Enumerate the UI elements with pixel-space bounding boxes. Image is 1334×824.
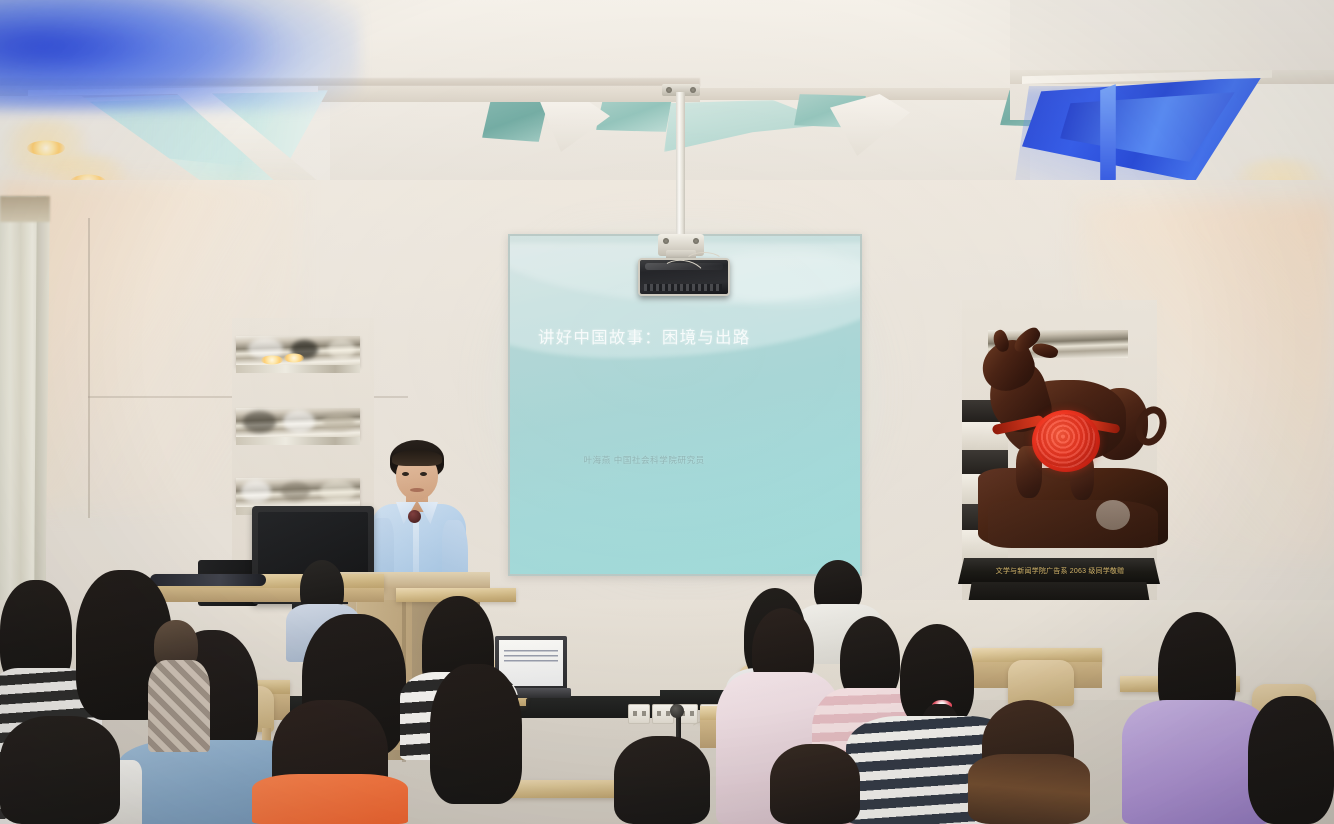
laptop-screen-text <box>504 650 558 662</box>
chair-right-2 <box>1008 660 1074 706</box>
wall-seam-vertical <box>88 218 90 518</box>
audience-head-far-left-front <box>0 716 120 824</box>
lecture-hall-photo: 讲好中国故事：困境与出路 叶海燕 中国社会科学院研究员 <box>0 0 1334 824</box>
teal-ceiling-panel-1 <box>482 98 548 142</box>
bull-sculpture <box>978 328 1168 558</box>
sculpture-plaque-text: 文学与新闻学院广告系 2063 级同学敬赠 <box>968 566 1152 576</box>
umbrella <box>150 574 266 586</box>
red-flower-texture <box>1036 414 1096 468</box>
blue-cove-glow-left-core <box>0 0 260 100</box>
audience-head-front-orange-right <box>614 736 710 824</box>
floor-microphone-head <box>670 704 684 718</box>
chrome-shelf-2 <box>236 408 360 438</box>
recessed-downlight-1 <box>20 136 72 160</box>
audience-torso-plaid <box>148 660 210 752</box>
audience-torso-orange <box>252 774 408 824</box>
shelf-light-reflection-2 <box>284 354 304 363</box>
presenter-hairline <box>392 450 442 466</box>
audience-hair-brown-long <box>968 754 1090 824</box>
presenter-mouth <box>410 488 424 492</box>
shelf-light-reflection-1 <box>261 356 283 365</box>
podium-microphone-head <box>408 510 421 523</box>
slide-subtitle: 叶海燕 中国社会科学院研究员 <box>584 454 705 466</box>
blue-cove-rib-right <box>1100 84 1116 188</box>
curtain-rod-shadow <box>0 196 50 222</box>
sculpture-base-lower <box>988 500 1158 548</box>
chrome-shelf-3 <box>236 478 360 508</box>
projector-mount-pole <box>676 92 685 240</box>
bull-horn-right <box>1031 341 1060 361</box>
desk-back-left-front <box>154 588 384 602</box>
audience-head-right-edge <box>1248 696 1334 824</box>
slide-title: 讲好中国故事：困境与出路 <box>538 324 750 348</box>
wall-outlet-1[interactable] <box>628 704 650 724</box>
audience-head-orange-front-2 <box>770 744 860 824</box>
audience-head-center-3 <box>430 664 522 804</box>
sculpture-base-opening <box>1096 500 1130 530</box>
